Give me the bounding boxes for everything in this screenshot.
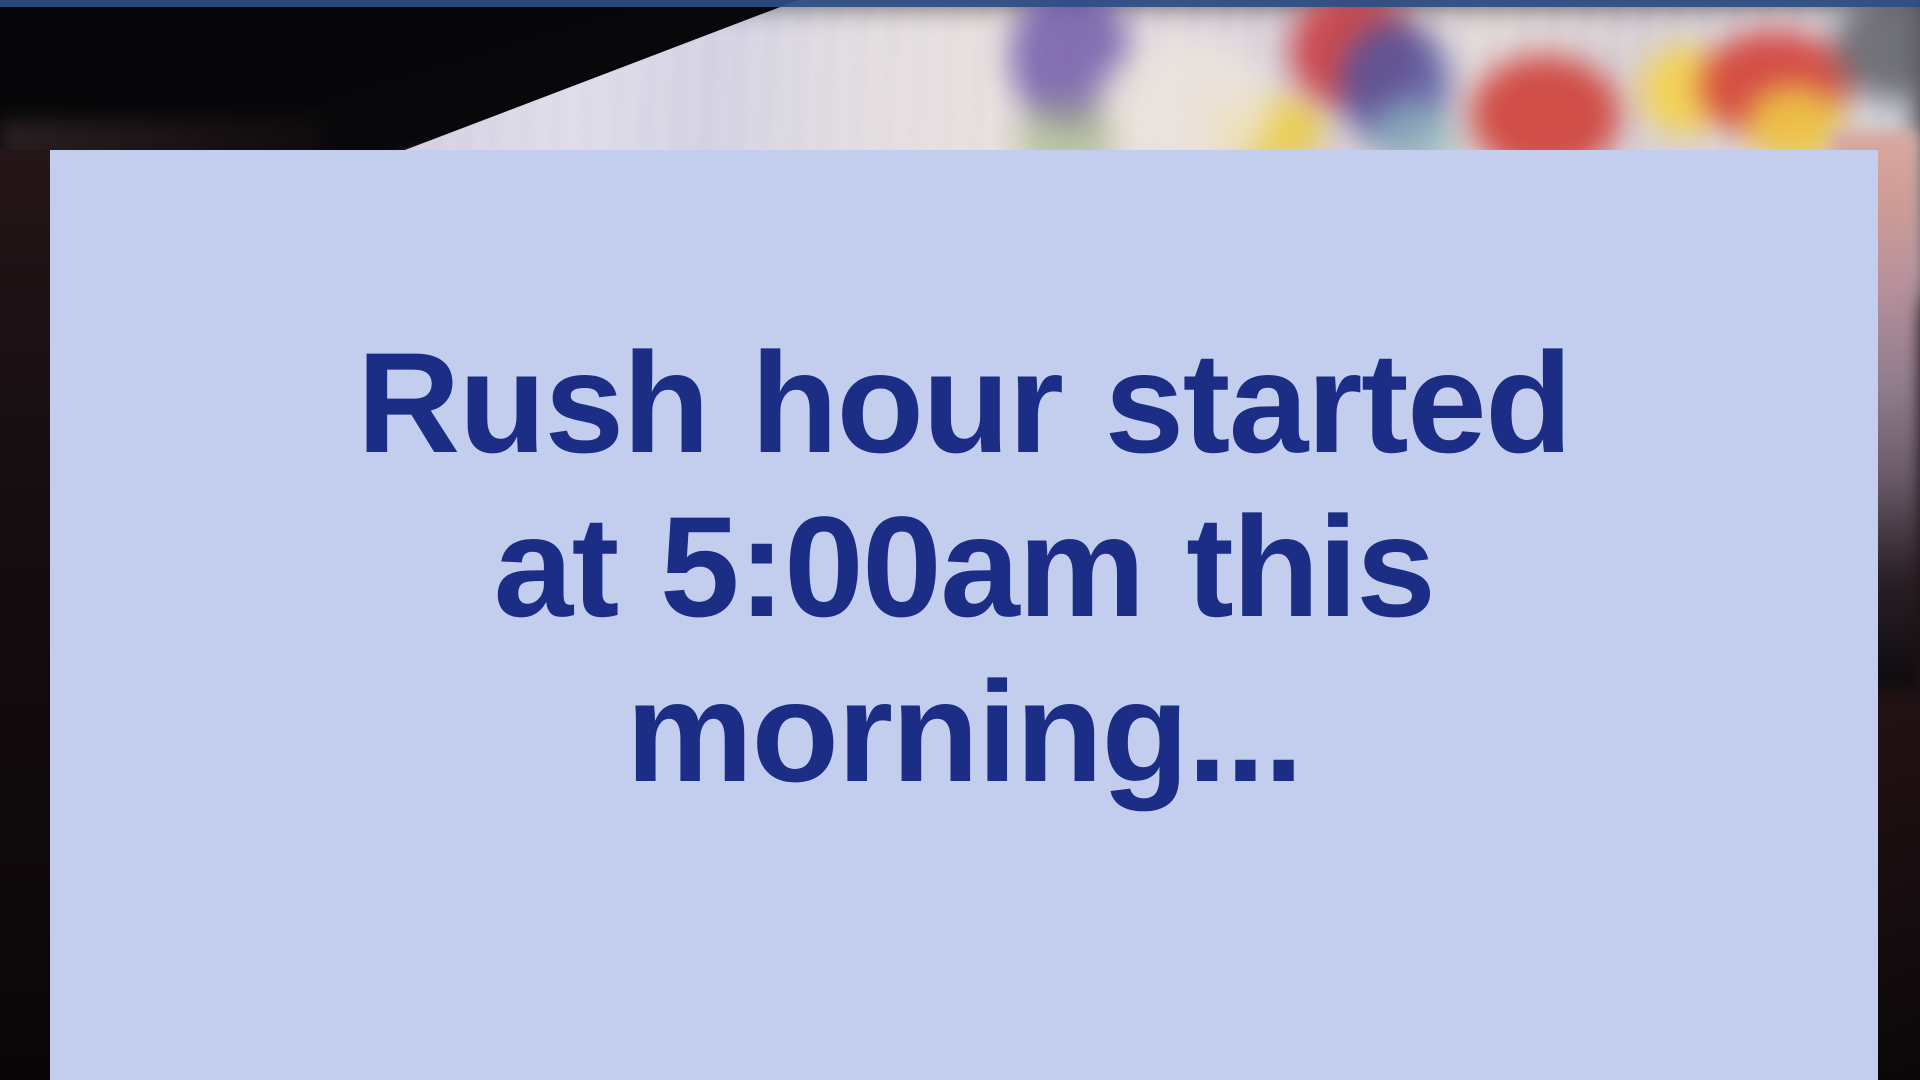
left-margin-band <box>0 150 50 1080</box>
caption-line-2: at 5:00am this <box>494 488 1435 647</box>
top-accent-bar <box>0 0 1920 7</box>
video-caption-frame: Rush hour started at 5:00am this morning… <box>0 0 1920 1080</box>
caption-paragraph: Rush hour started at 5:00am this morning… <box>184 322 1744 815</box>
caption-line-3: morning... <box>626 653 1302 812</box>
caption-overlay-panel: Rush hour started at 5:00am this morning… <box>50 150 1878 1080</box>
caption-line-1: Rush hour started <box>357 324 1571 483</box>
